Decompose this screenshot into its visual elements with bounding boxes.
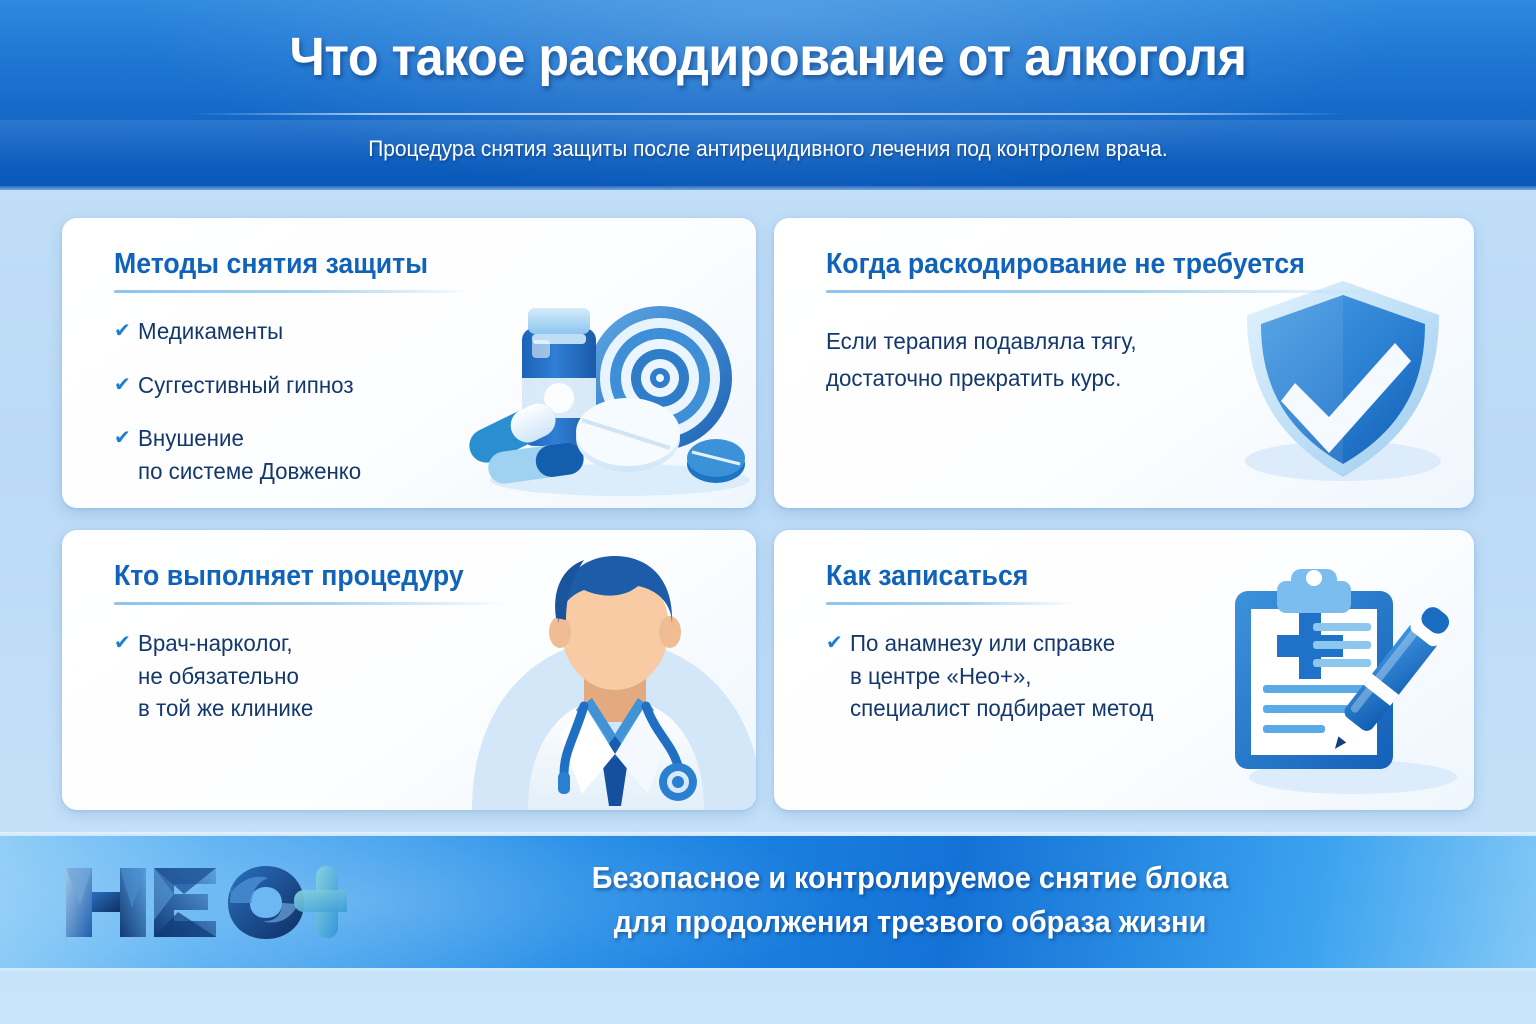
card-title-how-to-book: Как записаться <box>826 560 1422 593</box>
list-item-label: Суггестивный гипноз <box>138 369 354 402</box>
list-item-label: Медикаменты <box>138 315 283 348</box>
card-who-performs: Кто выполняет процедуру ✔ Врач-нарколог,… <box>62 530 756 810</box>
card-title-methods: Методы снятия защиты <box>114 248 705 281</box>
footer-tagline-line2: для продолжения трезвого образа жизни <box>394 900 1426 944</box>
list-item: ✔ Внушение по системе Довженко <box>114 422 756 487</box>
bullet-list-how-to-book: ✔ По анамнезу или справке в центре «Нео+… <box>826 627 1474 725</box>
bullet-list-methods: ✔ Медикаменты ✔ Суггестивный гипноз ✔ Вн… <box>114 315 756 488</box>
title-underline <box>826 290 1381 293</box>
header-divider <box>190 113 1346 115</box>
card-paragraph: Если терапия подавляла тягу, достаточно … <box>826 323 1455 398</box>
check-icon: ✔ <box>114 633 138 653</box>
card-title-who-performs: Кто выполняет процедуру <box>114 560 705 593</box>
check-icon: ✔ <box>114 375 138 395</box>
card-title-when-not-needed: Когда раскодирование не требуется <box>826 248 1422 281</box>
footer-tagline-line1: Безопасное и контролируемое снятие блока <box>394 856 1426 900</box>
title-underline <box>826 602 1076 605</box>
page-header: Что такое раскодирование от алкоголя Про… <box>0 0 1536 190</box>
card-grid: Методы снятия защиты ✔ Медикаменты ✔ Суг… <box>62 218 1474 810</box>
page-subtitle: Процедура снятия защиты после антирециди… <box>38 136 1497 162</box>
list-item: ✔ Врач-нарколог, не обязательно в той же… <box>114 627 756 725</box>
footer-tagline: Безопасное и контролируемое снятие блока… <box>394 856 1426 944</box>
list-item-label: Внушение по системе Довженко <box>138 422 361 487</box>
list-item: ✔ По анамнезу или справке в центре «Нео+… <box>826 627 1474 725</box>
list-item: ✔ Медикаменты <box>114 315 756 348</box>
page-footer: Безопасное и контролируемое снятие блока… <box>0 836 1536 968</box>
check-icon: ✔ <box>114 321 138 341</box>
check-icon: ✔ <box>826 633 850 653</box>
page-title: Что такое раскодирование от алкоголя <box>54 26 1482 88</box>
title-underline <box>114 290 474 293</box>
check-icon: ✔ <box>114 428 138 448</box>
infographic-page: Что такое раскодирование от алкоголя Про… <box>0 0 1536 1024</box>
list-item-label: Врач-нарколог, не обязательно в той же к… <box>138 627 313 725</box>
card-methods: Методы снятия защиты ✔ Медикаменты ✔ Суг… <box>62 218 756 508</box>
neo-plus-logo <box>62 860 347 945</box>
list-item: ✔ Суггестивный гипноз <box>114 369 756 402</box>
card-how-to-book: Как записаться ✔ По анамнезу или справке… <box>774 530 1474 810</box>
bullet-list-who-performs: ✔ Врач-нарколог, не обязательно в той же… <box>114 627 756 725</box>
card-when-not-needed: Когда раскодирование не требуется Если т… <box>774 218 1474 508</box>
title-underline <box>114 602 509 605</box>
list-item-label: По анамнезу или справке в центре «Нео+»,… <box>850 627 1153 725</box>
